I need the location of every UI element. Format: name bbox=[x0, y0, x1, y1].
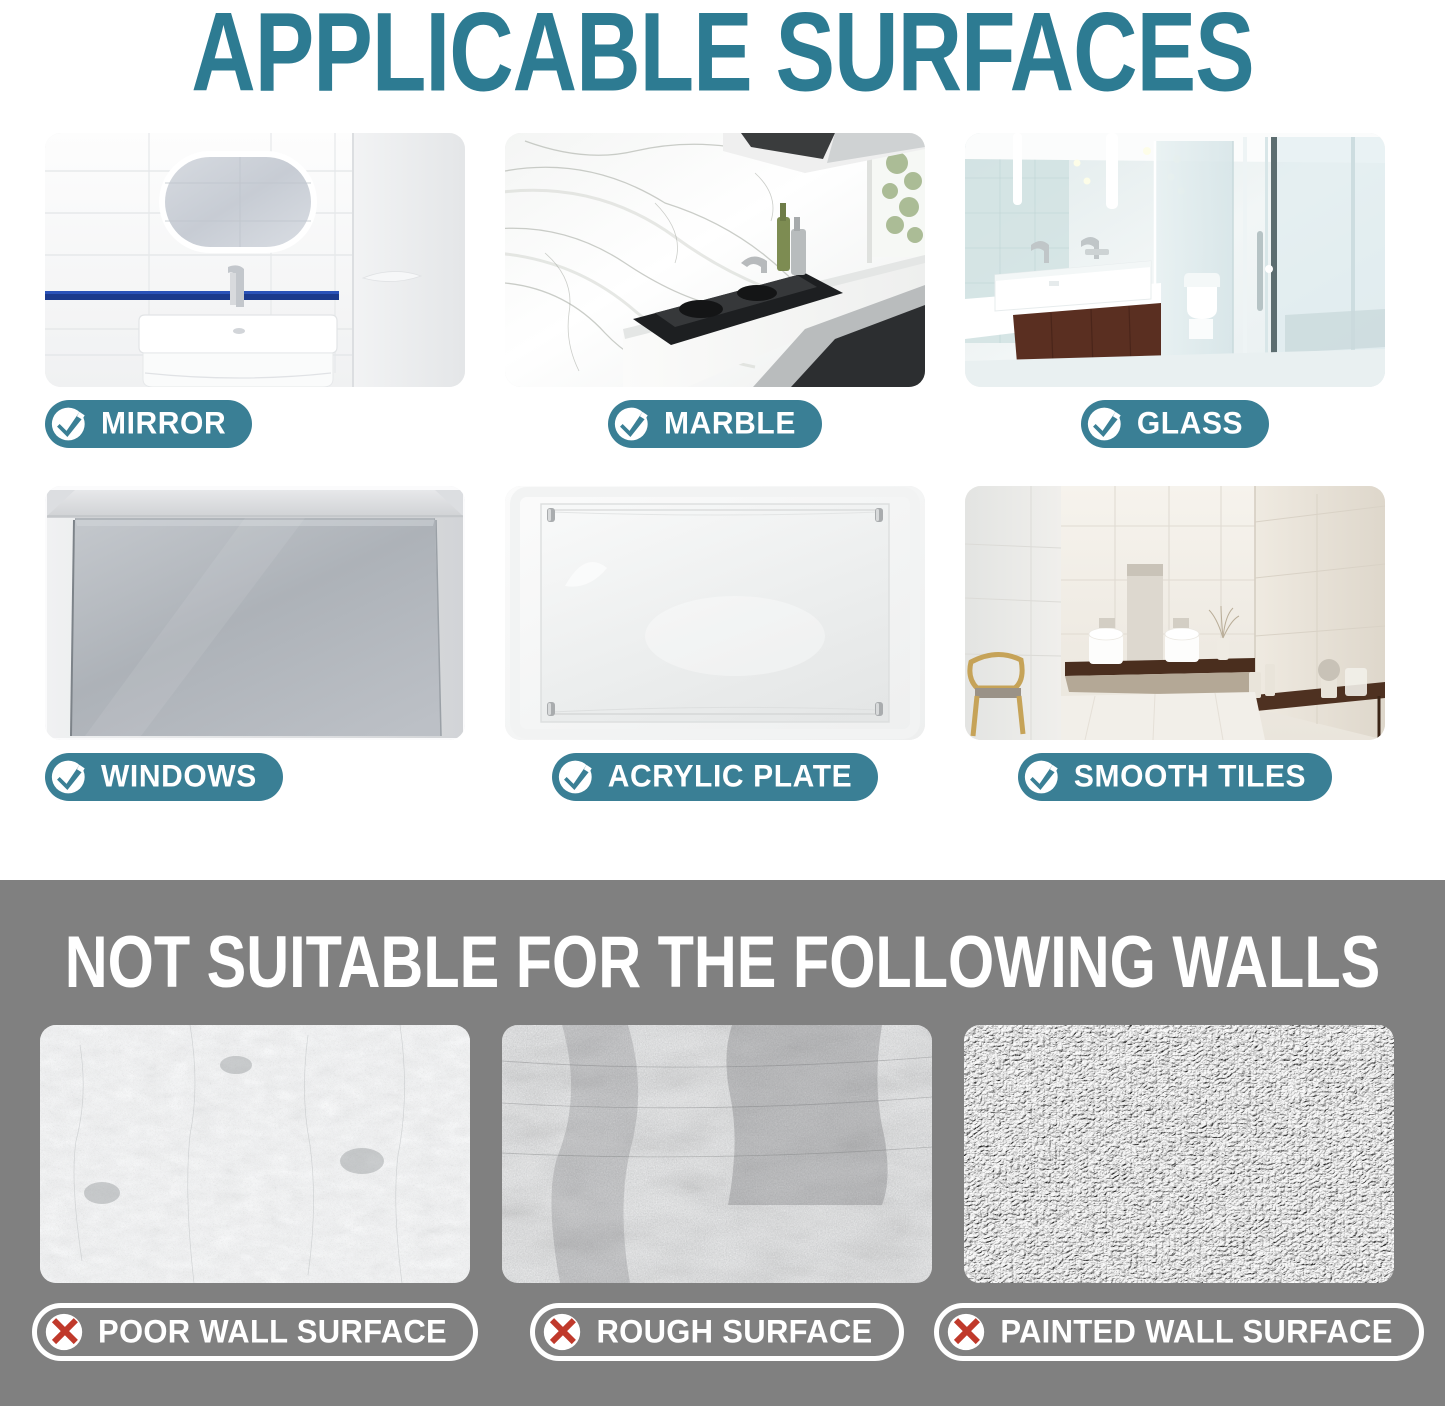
unsuitable-card-poor-wall: POOR WALL SURFACE bbox=[40, 1025, 470, 1361]
surface-badge-label: WINDOWS bbox=[101, 759, 257, 795]
painted-wall-texture bbox=[964, 1025, 1394, 1283]
surface-badge-marble[interactable]: MARBLE bbox=[608, 400, 822, 448]
surface-card-mirror: MIRROR bbox=[45, 133, 465, 448]
surface-badge-windows[interactable]: WINDOWS bbox=[45, 753, 283, 801]
badge-row: WINDOWS bbox=[45, 753, 465, 801]
surface-card-glass: GLASS bbox=[965, 133, 1385, 448]
surface-card-marble: MARBLE bbox=[505, 133, 925, 448]
unsuitable-badge-painted-wall[interactable]: PAINTED WALL SURFACE bbox=[934, 1303, 1423, 1361]
surface-card-acrylic: ACRYLIC PLATE bbox=[505, 486, 925, 801]
not-suitable-section: NOT SUITABLE FOR THE FOLLOWING WALLS bbox=[0, 880, 1445, 1406]
check-icon bbox=[1087, 405, 1125, 443]
unsuitable-badge-label: PAINTED WALL SURFACE bbox=[1000, 1313, 1392, 1351]
infographic-page: APPLICABLE SURFACES bbox=[0, 0, 1445, 1406]
x-icon bbox=[44, 1312, 84, 1352]
surface-badge-label: GLASS bbox=[1137, 406, 1243, 442]
surface-badge-smooth-tiles[interactable]: SMOOTH TILES bbox=[1018, 753, 1332, 801]
surface-badge-label: ACRYLIC PLATE bbox=[608, 759, 852, 795]
surface-badge-glass[interactable]: GLASS bbox=[1081, 400, 1269, 448]
check-icon bbox=[51, 758, 89, 796]
surface-badge-acrylic-plate[interactable]: ACRYLIC PLATE bbox=[552, 753, 878, 801]
surface-badge-label: SMOOTH TILES bbox=[1074, 759, 1306, 795]
x-icon bbox=[946, 1312, 986, 1352]
poor-wall-texture bbox=[40, 1025, 470, 1283]
surface-card-windows: WINDOWS bbox=[45, 486, 465, 801]
applicable-surfaces-section: APPLICABLE SURFACES bbox=[0, 0, 1445, 880]
smooth-tiles-photo bbox=[965, 486, 1385, 740]
bathroom-mirror-photo bbox=[45, 133, 465, 387]
not-suitable-heading: NOT SUITABLE FOR THE FOLLOWING WALLS bbox=[7, 920, 1438, 1004]
check-icon bbox=[558, 758, 596, 796]
check-icon bbox=[614, 405, 652, 443]
check-icon bbox=[51, 405, 89, 443]
glass-bathroom-photo bbox=[965, 133, 1385, 387]
unsuitable-badge-rough-surface[interactable]: ROUGH SURFACE bbox=[530, 1303, 903, 1361]
unsuitable-badge-poor-wall[interactable]: POOR WALL SURFACE bbox=[32, 1303, 478, 1361]
not-suitable-grid: POOR WALL SURFACE bbox=[40, 1025, 1400, 1361]
unsuitable-card-painted-wall: PAINTED WALL SURFACE bbox=[964, 1025, 1394, 1361]
check-icon bbox=[1024, 758, 1062, 796]
unsuitable-card-rough: ROUGH SURFACE bbox=[502, 1025, 932, 1361]
unsuitable-badge-label: ROUGH SURFACE bbox=[596, 1313, 872, 1351]
x-icon bbox=[542, 1312, 582, 1352]
badge-row: MARBLE bbox=[505, 400, 925, 448]
window-frame-photo bbox=[45, 486, 465, 740]
badge-row: ACRYLIC PLATE bbox=[505, 753, 925, 801]
applicable-surfaces-grid: MIRROR bbox=[45, 133, 1385, 801]
rough-surface-texture bbox=[502, 1025, 932, 1283]
badge-row: MIRROR bbox=[45, 400, 465, 448]
surface-card-smooth-tiles: SMOOTH TILES bbox=[965, 486, 1385, 801]
marble-backsplash-photo bbox=[505, 133, 925, 387]
surface-badge-label: MARBLE bbox=[664, 406, 796, 442]
badge-row: PAINTED WALL SURFACE bbox=[964, 1303, 1394, 1361]
surface-badge-mirror[interactable]: MIRROR bbox=[45, 400, 252, 448]
applicable-surfaces-heading: APPLICABLE SURFACES bbox=[22, 0, 1424, 112]
badge-row: SMOOTH TILES bbox=[965, 753, 1385, 801]
badge-row: GLASS bbox=[965, 400, 1385, 448]
badge-row: POOR WALL SURFACE bbox=[40, 1303, 470, 1361]
surface-badge-label: MIRROR bbox=[101, 406, 226, 442]
unsuitable-badge-label: POOR WALL SURFACE bbox=[98, 1313, 447, 1351]
badge-row: ROUGH SURFACE bbox=[502, 1303, 932, 1361]
acrylic-plate-photo bbox=[505, 486, 925, 740]
